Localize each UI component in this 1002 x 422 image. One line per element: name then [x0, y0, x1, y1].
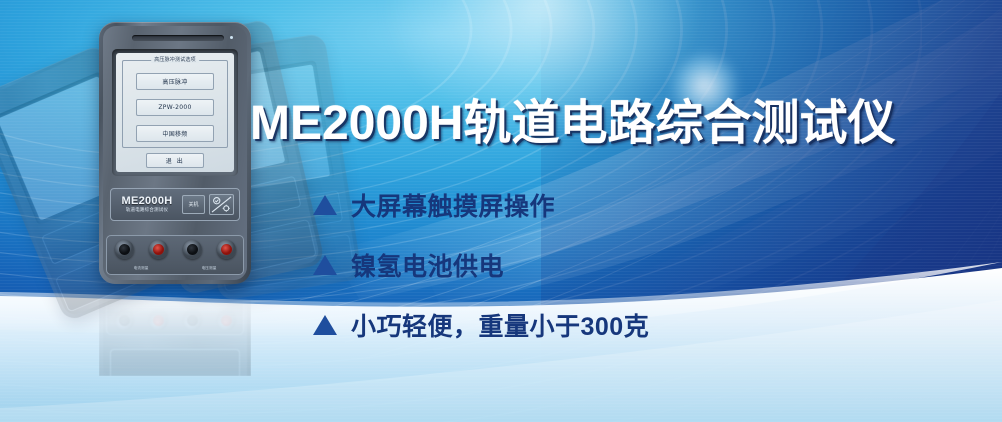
current-jack-red[interactable] — [149, 240, 168, 259]
product-banner: 高压脉冲测试选项 高压脉冲 ZPW-2000 中国移频 退 出 ME2000H … — [0, 0, 1002, 422]
device-power-off-key[interactable]: 关机 — [182, 195, 205, 214]
device-lcd-screen[interactable]: 高压脉冲测试选项 高压脉冲 ZPW-2000 中国移频 退 出 — [116, 53, 234, 172]
feature-label: 小巧轻便，重量小于300克 — [351, 307, 649, 343]
current-jack-black[interactable] — [115, 240, 134, 259]
device-jack-panel: 电流测量 电压测量 — [106, 235, 244, 275]
voltage-jack-black[interactable] — [183, 240, 202, 259]
jack-label-current: 电流测量 — [134, 266, 149, 271]
device-reflection — [99, 286, 251, 376]
lcd-button-zpw-2000[interactable]: ZPW-2000 — [136, 99, 214, 116]
device-brand-text: ME2000H 轨道电路综合测试仪 — [116, 196, 178, 214]
triangle-up-icon — [313, 195, 337, 215]
device-screen-bezel: 高压脉冲测试选项 高压脉冲 ZPW-2000 中国移频 退 出 — [112, 49, 238, 176]
device-indicator-dot — [230, 36, 233, 39]
feature-label: 镍氢电池供电 — [351, 247, 504, 283]
jack-label-voltage: 电压测量 — [202, 266, 217, 271]
lcd-group-title: 高压脉冲测试选项 — [151, 56, 199, 63]
power-settings-icon[interactable] — [209, 194, 234, 215]
voltage-jack-red[interactable] — [217, 240, 236, 259]
jack-labels: 电流测量 电压测量 — [107, 266, 243, 271]
feature-label: 大屏幕触摸屏操作 — [351, 187, 555, 223]
page-title: ME2000H轨道电路综合测试仪 — [250, 83, 895, 153]
feature-item: 镍氢电池供电 — [313, 242, 649, 288]
lcd-button-high-voltage-pulse[interactable]: 高压脉冲 — [136, 73, 214, 90]
triangle-up-icon — [313, 255, 337, 275]
device-brand-plate: ME2000H 轨道电路综合测试仪 关机 — [110, 188, 240, 221]
device-model-subtitle: 轨道电路综合测试仪 — [126, 209, 168, 214]
feature-list: 大屏幕触摸屏操作 镍氢电池供电 小巧轻便，重量小于300克 — [313, 182, 649, 362]
device-speaker-slot — [132, 35, 223, 41]
lcd-option-group: 高压脉冲测试选项 高压脉冲 ZPW-2000 中国移频 — [122, 60, 228, 148]
feature-item: 大屏幕触摸屏操作 — [313, 182, 649, 228]
lcd-button-exit[interactable]: 退 出 — [146, 153, 204, 168]
feature-item: 小巧轻便，重量小于300克 — [313, 302, 649, 348]
device-model-label: ME2000H — [121, 196, 172, 207]
lcd-button-china-frequency-shift[interactable]: 中国移频 — [136, 125, 214, 142]
triangle-up-icon — [313, 315, 337, 335]
product-device: 高压脉冲测试选项 高压脉冲 ZPW-2000 中国移频 退 出 ME2000H … — [99, 22, 251, 284]
